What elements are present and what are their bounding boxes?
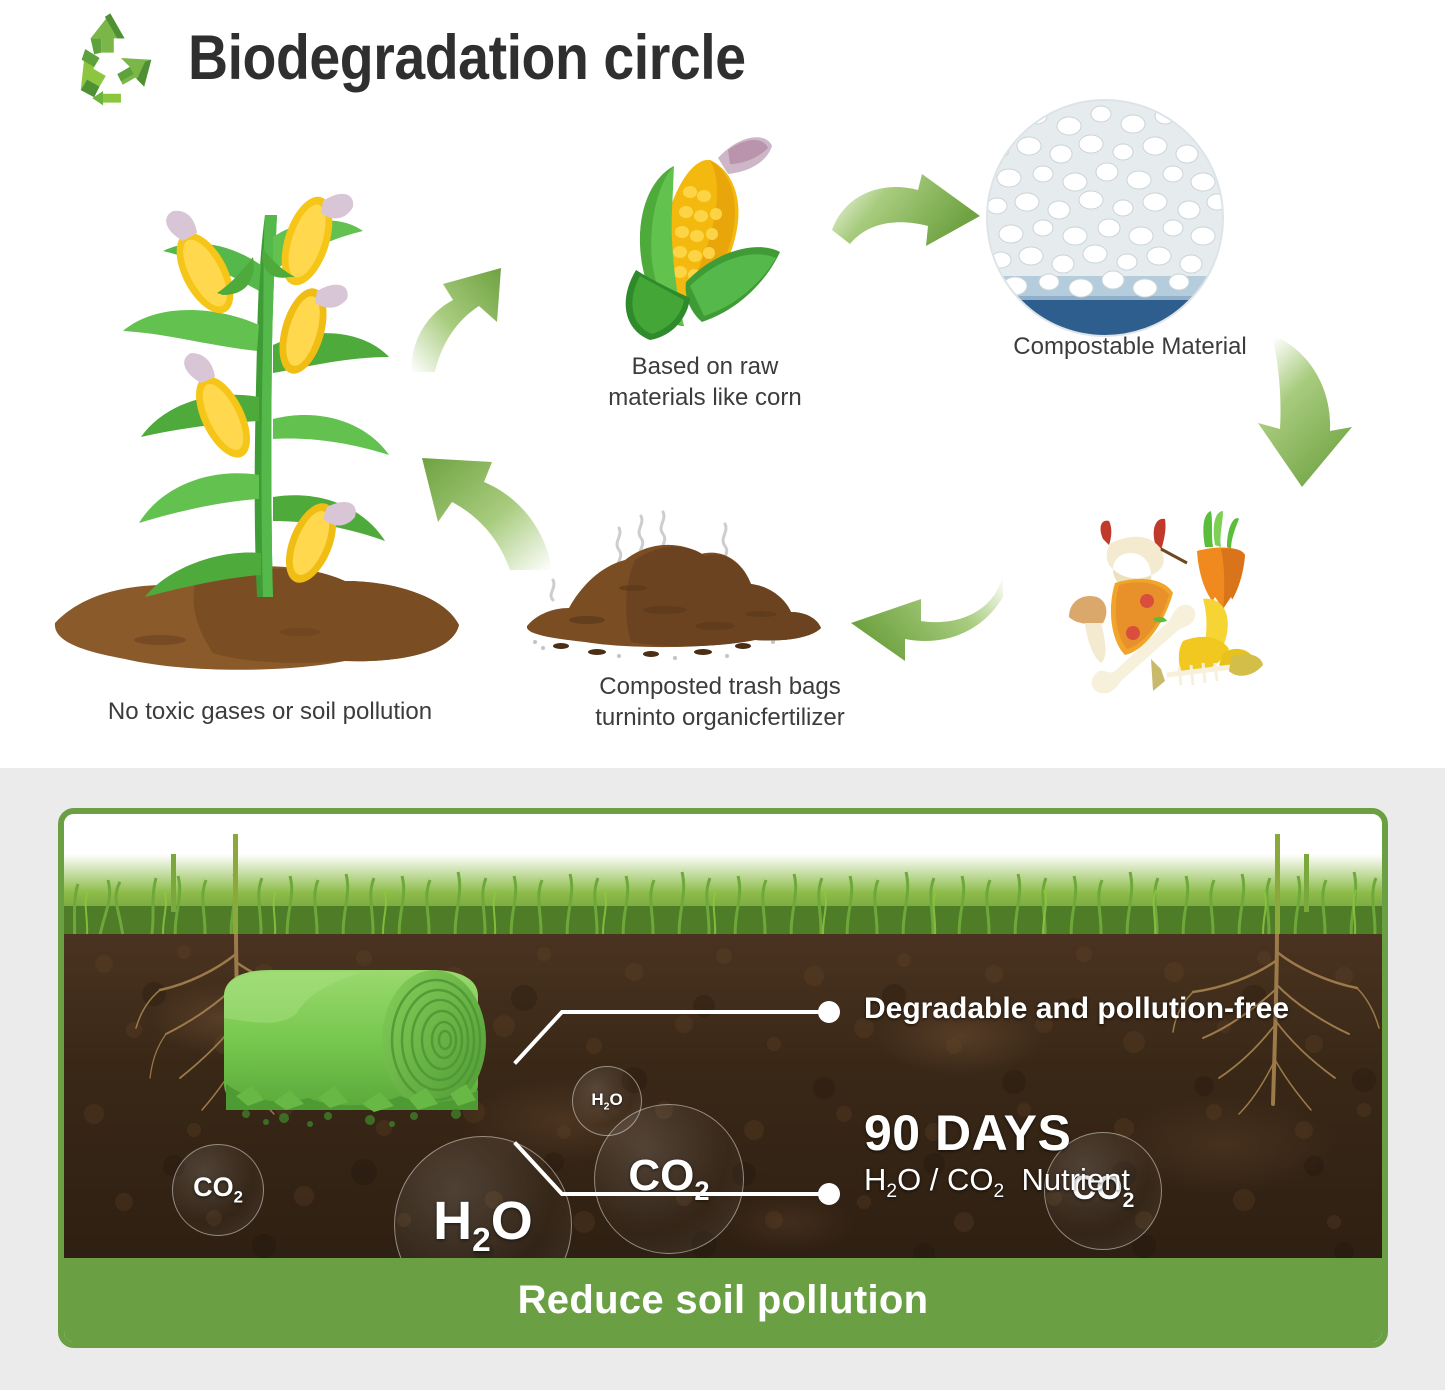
- arrow-left-icon: [845, 565, 1005, 680]
- bubble-co2-left-text: CO2: [193, 1172, 243, 1207]
- corn-plant-in-soil-icon: [45, 145, 465, 685]
- caption-compostable: Compostable Material: [930, 332, 1330, 363]
- food-waste-icon: [1055, 505, 1275, 705]
- bubble-h2o-small-text: H2O: [591, 1090, 622, 1112]
- bubble-co2-left: CO2: [172, 1144, 264, 1236]
- bubble-co2-middle-text: CO2: [628, 1151, 709, 1207]
- resin-pellets-circle-icon: [985, 98, 1225, 338]
- page-title: Biodegradation circle: [188, 22, 746, 94]
- bubble-h2o-small: H2O: [572, 1066, 642, 1136]
- recycle-icon: [58, 8, 166, 108]
- caption-raw-materials: Based on raw materials like corn: [565, 352, 845, 413]
- soil-scene-card: CO2 H2O CO2 H2O CO2: [58, 808, 1388, 1348]
- reduce-banner-text: Reduce soil pollution: [518, 1278, 929, 1323]
- compost-mound-icon: [515, 490, 845, 675]
- biodegradation-cycle-panel: Biodegradation circle: [0, 0, 1445, 768]
- green-trash-bag-roll-icon: [212, 956, 522, 1141]
- soil-degradation-panel: CO2 H2O CO2 H2O CO2: [0, 768, 1445, 1390]
- caption-composted-bags: Composted trash bags turninto organicfer…: [520, 672, 920, 733]
- caption-no-toxic-gases: No toxic gases or soil pollution: [40, 697, 500, 728]
- corn-cob-icon: [590, 130, 790, 345]
- bubble-h2o-large-text: H2O: [433, 1190, 533, 1260]
- arrow-right-icon: [830, 168, 985, 278]
- infographic-page: Biodegradation circle: [0, 0, 1445, 1390]
- reduce-soil-pollution-banner: Reduce soil pollution: [64, 1258, 1382, 1342]
- arrow-up-left-icon: [405, 248, 535, 373]
- header: Biodegradation circle: [58, 8, 822, 108]
- label-90-days: 90 DAYS: [864, 1104, 1071, 1162]
- arrow-up-left-lower-icon: [400, 440, 560, 575]
- label-degradable: Degradable and pollution-free: [864, 992, 1289, 1026]
- label-nutrient: H2O / CO2 Nutrient: [864, 1162, 1130, 1203]
